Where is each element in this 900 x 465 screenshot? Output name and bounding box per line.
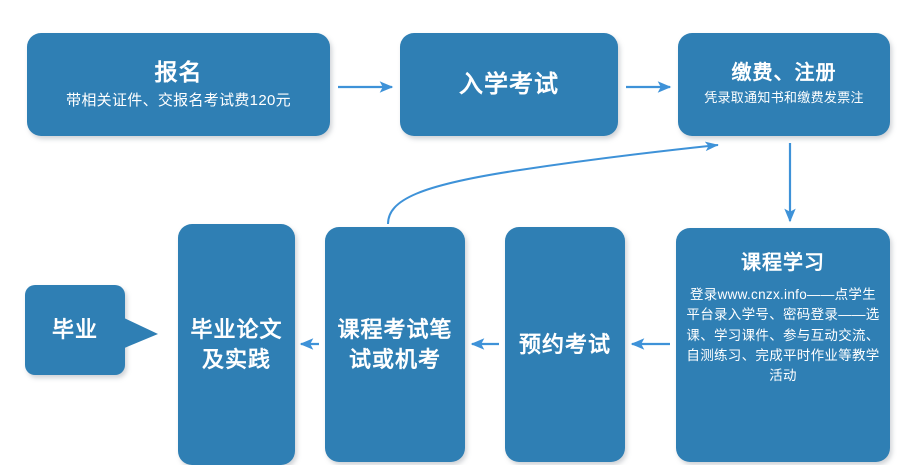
flowchart-canvas: 报名 带相关证件、交报名考试费120元 入学考试 缴费、注册 凭录取通知书和缴费…	[0, 0, 900, 465]
node-thesis-title: 毕业论文及实践	[188, 315, 285, 374]
node-course-study-title: 课程学习	[741, 250, 825, 277]
node-book-exam[interactable]: 预约考试	[505, 227, 625, 462]
node-payment[interactable]: 缴费、注册 凭录取通知书和缴费发票注	[678, 33, 890, 136]
node-course-exam-title: 课程考试笔试或机考	[335, 315, 455, 374]
node-graduate-title: 毕业	[52, 316, 98, 344]
node-payment-subtitle: 凭录取通知书和缴费发票注	[704, 89, 864, 108]
node-entrance-exam[interactable]: 入学考试	[400, 33, 618, 136]
node-book-exam-title: 预约考试	[519, 330, 611, 360]
node-register[interactable]: 报名 带相关证件、交报名考试费120元	[27, 33, 330, 136]
node-course-exam[interactable]: 课程考试笔试或机考	[325, 227, 465, 462]
node-thesis[interactable]: 毕业论文及实践	[178, 224, 295, 465]
node-course-study-subtitle: 登录www.cnzx.info——点学生平台录入学号、密码登录——选课、学习课件…	[686, 285, 880, 386]
arrow-course-exam-to-payment	[388, 145, 718, 224]
node-payment-title: 缴费、注册	[732, 61, 837, 86]
node-register-subtitle: 带相关证件、交报名考试费120元	[66, 90, 291, 112]
node-register-title: 报名	[155, 58, 203, 87]
callout-tail-icon	[122, 315, 162, 355]
node-entrance-exam-title: 入学考试	[459, 70, 559, 100]
node-graduate[interactable]: 毕业	[25, 285, 125, 375]
node-course-study[interactable]: 课程学习 登录www.cnzx.info——点学生平台录入学号、密码登录——选课…	[676, 228, 890, 462]
